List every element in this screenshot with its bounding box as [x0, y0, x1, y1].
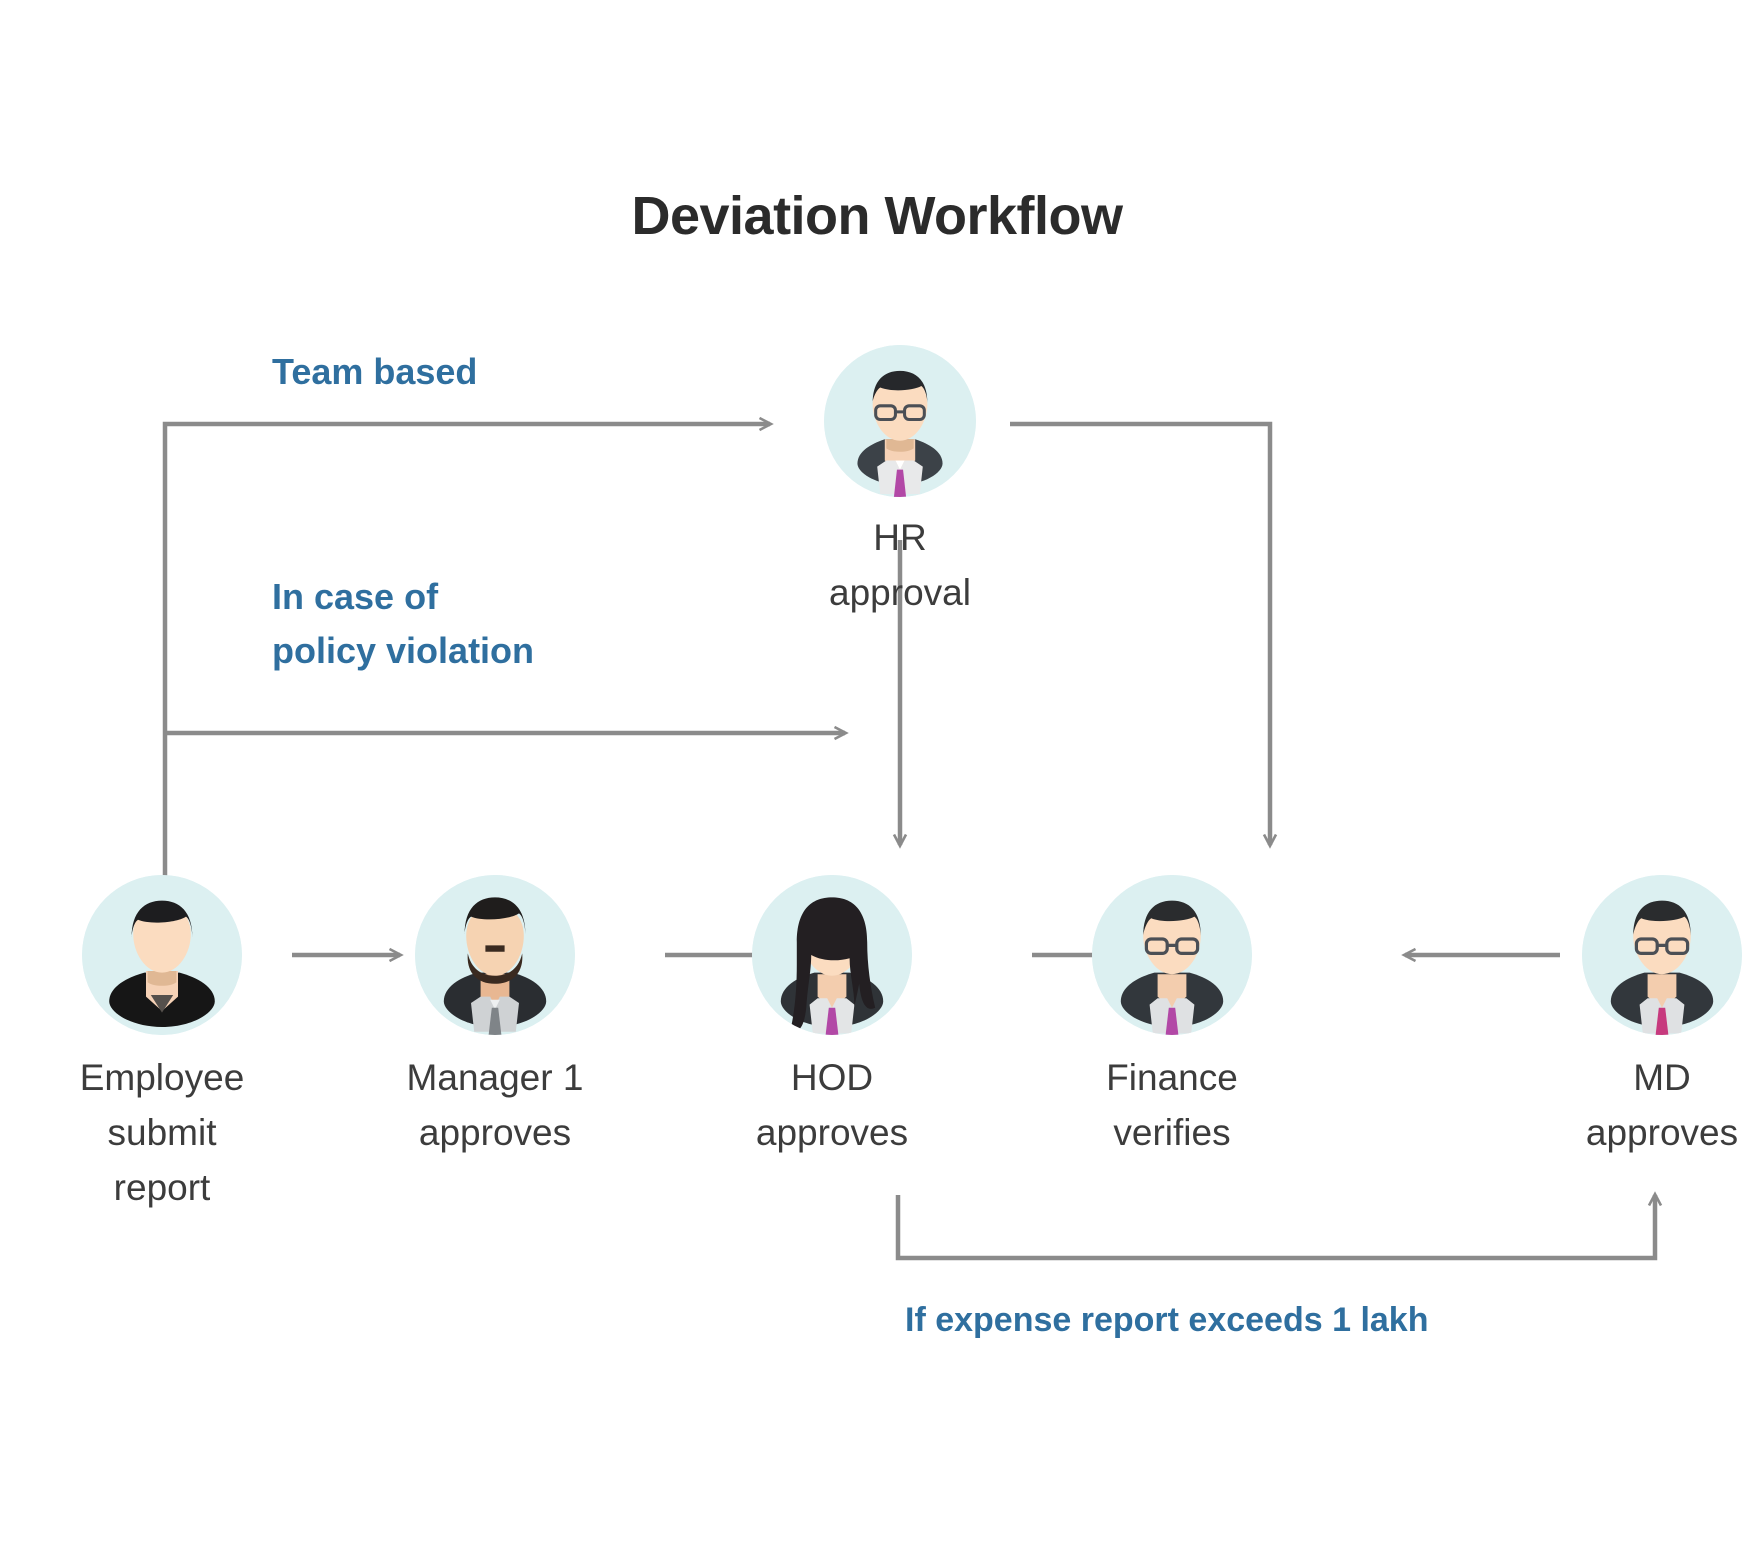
caption-team-based: Team based	[272, 345, 477, 399]
node-hod-label: HOD approves	[732, 1051, 932, 1161]
connector-lines	[0, 0, 1754, 1565]
node-manager-label: Manager 1 approves	[395, 1051, 595, 1161]
node-md[interactable]: MD approves	[1562, 875, 1754, 1161]
diagram-canvas: Deviation Workflow	[0, 0, 1754, 1565]
node-md-label: MD approves	[1562, 1051, 1754, 1161]
node-employee-label: Employee submit report	[62, 1051, 262, 1215]
avatar-employee	[82, 875, 242, 1035]
caption-policy-violation: In case of policy violation	[272, 570, 534, 678]
node-finance-label: Finance verifies	[1072, 1051, 1272, 1161]
caption-exceeds-lakh: If expense report exceeds 1 lakh	[905, 1295, 1428, 1346]
avatar-md	[1582, 875, 1742, 1035]
node-hr[interactable]: HR approval	[800, 345, 1000, 621]
node-hod[interactable]: HOD approves	[732, 875, 932, 1161]
node-finance[interactable]: Finance verifies	[1072, 875, 1272, 1161]
avatar-hr	[824, 345, 976, 497]
avatar-manager	[415, 875, 575, 1035]
avatar-finance	[1092, 875, 1252, 1035]
avatar-hod	[752, 875, 912, 1035]
node-employee[interactable]: Employee submit report	[62, 875, 262, 1215]
node-manager[interactable]: Manager 1 approves	[395, 875, 595, 1161]
node-hr-label: HR approval	[800, 511, 1000, 621]
